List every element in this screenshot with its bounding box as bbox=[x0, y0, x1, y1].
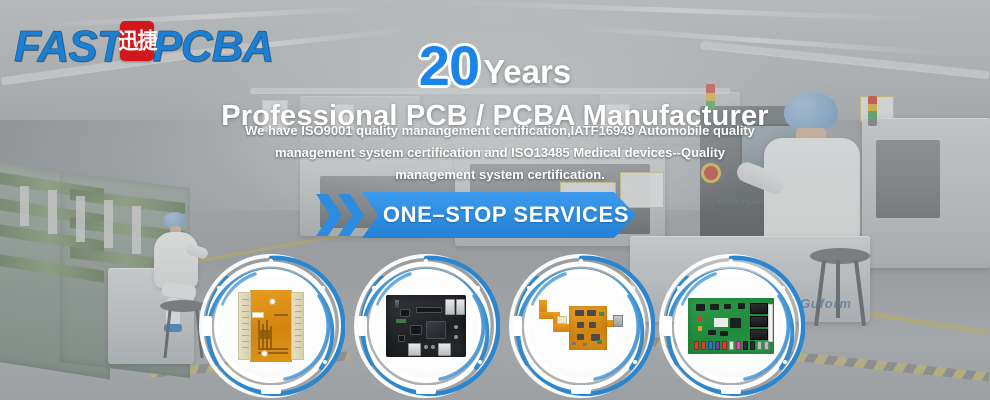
description-line-1: We have ISO9001 quality manangement cert… bbox=[232, 120, 768, 142]
pcb-usb-port bbox=[408, 343, 421, 356]
motherboard-black-artwork bbox=[386, 295, 466, 357]
pcb-rj45-port bbox=[445, 299, 455, 315]
pcb-trace bbox=[270, 326, 272, 350]
pcb-terminal bbox=[701, 341, 706, 350]
pcb-relay bbox=[750, 329, 768, 340]
pcb-chip bbox=[589, 322, 596, 328]
pcb-capacitor bbox=[454, 325, 458, 329]
chevron-right-icon bbox=[316, 194, 342, 236]
pcb-terminal bbox=[722, 341, 727, 350]
one-stop-services-label: ONE–STOP SERVICES bbox=[369, 202, 629, 228]
product-circle-3[interactable] bbox=[507, 252, 655, 400]
pcb-terminal bbox=[694, 341, 699, 350]
pcb-connector bbox=[396, 319, 406, 323]
product-image-3 bbox=[529, 274, 633, 378]
pcb-chip bbox=[398, 335, 405, 342]
pcb-chip bbox=[577, 334, 584, 340]
pcb-pad bbox=[557, 316, 567, 324]
pcb-terminal bbox=[764, 341, 769, 350]
pcb-capacitor bbox=[431, 345, 435, 349]
pcb-trace bbox=[274, 314, 288, 316]
pcb-microcontroller bbox=[730, 318, 741, 328]
pcb-chip bbox=[720, 331, 728, 336]
pcb-chip bbox=[410, 325, 422, 335]
pcb-capacitor bbox=[698, 316, 702, 321]
logo-seal-characters: 迅捷 bbox=[118, 31, 156, 52]
pcb-relay bbox=[750, 303, 768, 314]
pcb-chip bbox=[738, 303, 745, 309]
control-board-green-artwork bbox=[688, 298, 774, 354]
pcb-connector-rail bbox=[238, 292, 251, 360]
pcb-silkscreen-label bbox=[714, 318, 728, 327]
pcb-processor bbox=[426, 321, 446, 339]
pcb-chip bbox=[587, 310, 596, 316]
pcb-terminal bbox=[715, 341, 720, 350]
pcb-usb-port bbox=[438, 343, 451, 356]
product-image-1 bbox=[219, 274, 323, 378]
pcb-chip bbox=[400, 309, 410, 317]
pcb-component bbox=[583, 343, 587, 346]
certifications-description: We have ISO9001 quality manangement cert… bbox=[232, 120, 768, 186]
pcb-chip bbox=[708, 330, 716, 335]
pcb-component bbox=[572, 342, 576, 345]
years-number: 20 bbox=[419, 38, 479, 94]
pcb-terminal-block bbox=[768, 304, 773, 342]
rigid-flex-pcb-artwork bbox=[539, 298, 623, 354]
pcb-chip bbox=[575, 310, 584, 316]
pcb-rj45-port bbox=[456, 299, 465, 315]
pcb-chip bbox=[724, 304, 731, 309]
description-line-2: management system certification and ISO1… bbox=[232, 142, 768, 164]
pcb-mounting-hole bbox=[269, 298, 276, 305]
pcb-chip bbox=[696, 304, 705, 311]
pcb-component bbox=[599, 312, 604, 316]
product-image-4 bbox=[679, 274, 783, 378]
pcb-slot bbox=[416, 307, 442, 313]
pcb-connector bbox=[613, 315, 623, 327]
product-circle-4[interactable] bbox=[657, 252, 805, 400]
pcb-terminal bbox=[757, 341, 762, 350]
pcb-relay bbox=[750, 316, 768, 327]
logo-seal-icon: 迅捷 bbox=[120, 21, 154, 61]
pcb-connector-rail bbox=[291, 292, 304, 360]
pcb-capacitor bbox=[454, 335, 458, 339]
pcb-mounting-hole bbox=[261, 350, 268, 357]
pcb-terminal bbox=[708, 341, 713, 350]
pcb-terminal bbox=[743, 341, 748, 350]
pcb-capacitor bbox=[698, 326, 702, 331]
one-stop-services-banner[interactable]: ONE–STOP SERVICES bbox=[316, 190, 636, 240]
pcb-terminal bbox=[750, 341, 755, 350]
description-line-3: management system certification. bbox=[232, 164, 768, 186]
pcb-chip bbox=[577, 322, 584, 328]
pcb-component bbox=[597, 340, 602, 344]
pcb-terminal bbox=[736, 341, 741, 350]
promotional-banner: KOHYOUNG Guform FAST bbox=[0, 0, 990, 400]
pcb-chip bbox=[710, 304, 719, 310]
flex-pcb-amber-artwork bbox=[238, 290, 304, 362]
product-image-2 bbox=[374, 274, 478, 378]
product-circle-2[interactable] bbox=[352, 252, 500, 400]
one-stop-services-arrow[interactable]: ONE–STOP SERVICES bbox=[362, 192, 636, 238]
pcb-capacitor bbox=[424, 345, 428, 349]
years-label: Years bbox=[483, 55, 571, 88]
product-showcase bbox=[0, 252, 990, 400]
pcb-terminal bbox=[729, 341, 734, 350]
pcb-component bbox=[260, 330, 270, 339]
pcb-label bbox=[252, 312, 264, 318]
product-circle-1[interactable] bbox=[197, 252, 345, 400]
pcb-header bbox=[394, 299, 400, 309]
